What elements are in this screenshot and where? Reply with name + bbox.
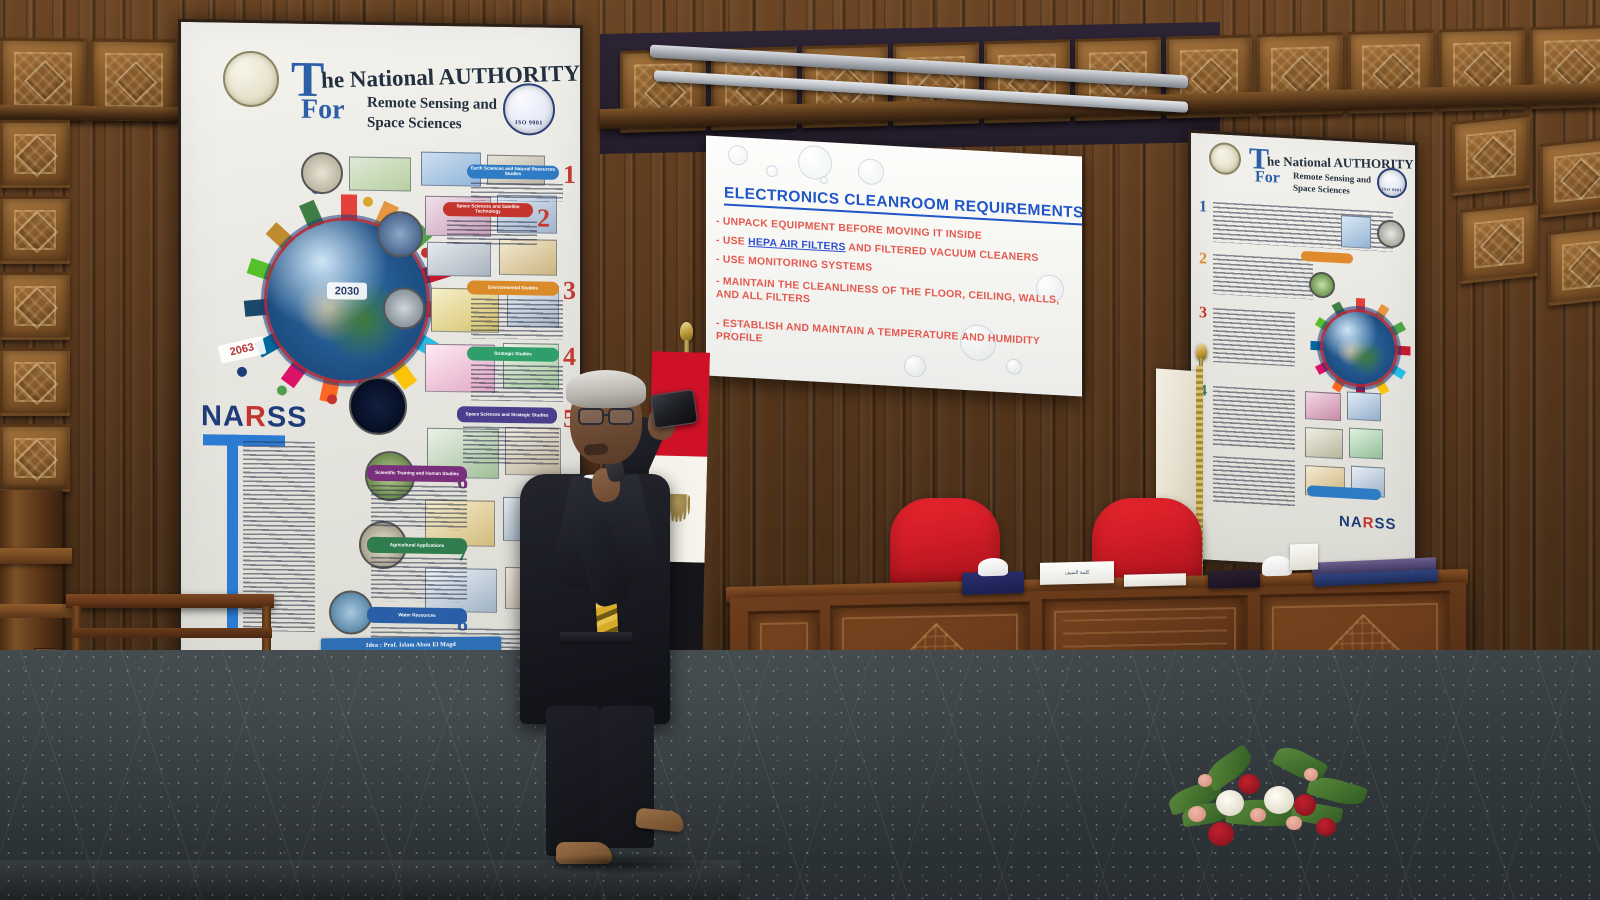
poster-body-text [1213, 386, 1295, 451]
tissue-sheet [978, 558, 1008, 577]
bubble-decoration-icon [728, 145, 748, 166]
belt [560, 632, 632, 644]
red-rose [1208, 822, 1234, 846]
poster-thumbnail-circle [377, 211, 423, 258]
iso-badge-label: ISO 9001 [505, 120, 553, 127]
poster-section-number: 1 [1199, 199, 1207, 215]
speaker-person [500, 370, 730, 870]
flower-arrangement [1164, 738, 1364, 848]
carved-panel [0, 120, 70, 188]
bullet-text: AND FILTERED VACUUM CLEANERS [846, 242, 1039, 264]
hepa-air-filters-link[interactable]: HEPA AIR FILTERS [748, 237, 846, 253]
poster-body-text [447, 220, 537, 245]
poster-section-number: 1 [563, 162, 576, 188]
conference-hall-scene: ISO 9001 T he National AUTHORITY For Rem… [0, 0, 1600, 900]
poster-header-line2b: Space Sciences [367, 115, 462, 133]
tissue-box-secondary[interactable] [1208, 569, 1260, 588]
poster-thumbnail-circle [301, 152, 343, 195]
white-rose [1216, 790, 1244, 816]
bubble-decoration-icon [820, 176, 828, 184]
poster-thumbnail-circle [349, 377, 407, 436]
poster-thumbnail [1347, 391, 1381, 421]
poster-thumbnail-circle [1377, 219, 1405, 249]
bubble-decoration-icon [798, 145, 832, 181]
poster-body-text [1213, 254, 1313, 300]
carved-panel [0, 348, 70, 416]
carved-panel [1460, 202, 1538, 284]
poster-section-title: Agricultural Applications [367, 537, 467, 555]
poster-body-text [371, 557, 467, 603]
poster-header-line2a: Remote Sensing and [367, 95, 497, 114]
iso-badge-label: ISO 9001 [1379, 187, 1405, 193]
projected-slide: ELECTRONICS CLEANROOM REQUIREMENTS - UNP… [706, 135, 1082, 396]
wheel-dot [327, 394, 337, 404]
side-table-rail [72, 628, 272, 638]
poster-thumbnail [1341, 215, 1371, 249]
side-table-top [66, 594, 274, 608]
poster-section-number: 2 [1199, 251, 1207, 267]
pink-flower [1286, 816, 1302, 830]
pink-flower [1304, 768, 1318, 781]
papers-stack[interactable] [1124, 573, 1186, 587]
eyeglasses-left-lens [578, 408, 604, 425]
poster-section-number: 2 [537, 205, 550, 231]
pillar-cap-lower [0, 604, 72, 618]
bubble-decoration-icon [1006, 358, 1022, 375]
tissue-sheet [1262, 556, 1292, 577]
carved-panel [0, 272, 70, 340]
flagpole-finial-icon [680, 322, 693, 341]
poster-section-number: 3 [563, 278, 576, 304]
poster-section-title: Water Resources [367, 607, 467, 625]
bubble-decoration-icon [766, 165, 778, 178]
trouser-leg-left [546, 706, 600, 856]
pink-flower [1250, 808, 1266, 822]
cornice-molding [0, 105, 200, 122]
eyeglasses-right-lens [608, 408, 634, 425]
person-shadow [534, 854, 714, 874]
carved-panel [0, 196, 70, 264]
poster-thumbnail [349, 157, 411, 192]
poster-thumbnail [1305, 391, 1341, 421]
poster-thumbnail [1305, 427, 1343, 459]
carved-panel [1452, 114, 1530, 196]
eyeglasses-bridge [604, 414, 610, 416]
poster-body-text [1213, 308, 1295, 367]
pink-flower [1198, 774, 1212, 787]
poster-body-text [371, 485, 467, 531]
bullet-text: - USE [716, 235, 748, 248]
pink-flower [1188, 806, 1206, 822]
red-rose [1238, 774, 1260, 794]
carved-panel [1540, 136, 1600, 218]
wheel-dot [363, 197, 373, 207]
poster-acronym: NARSS [1339, 513, 1397, 533]
slide-bullet-5: - ESTABLISH AND MAINTAIN A TEMPERATURE A… [716, 318, 1068, 363]
poster-header-line1: he National AUTHORITY [1267, 154, 1414, 173]
poster-thumbnail-circle [383, 287, 425, 330]
bullet-text: - ESTABLISH AND MAINTAIN A TEMPERATURE A… [716, 318, 1040, 347]
name-card-text: كلمة الضيف [1065, 570, 1090, 577]
poster-thumbnail [427, 242, 491, 277]
bubble-decoration-icon [904, 355, 926, 378]
poster-header-line2b: Space Sciences [1293, 182, 1350, 195]
pillar-cap [0, 548, 72, 564]
smartphone[interactable] [650, 389, 698, 429]
narss-seal-icon [1209, 142, 1241, 176]
poster-header-for: For [301, 94, 345, 127]
name-card: كلمة الضيف [1040, 561, 1114, 585]
poster-section-title: Strategic Studies [467, 346, 559, 361]
poster-body-text [471, 298, 563, 339]
poster-header-for: For [1255, 168, 1280, 187]
iso-9001-seal-icon: ISO 9001 [503, 83, 555, 136]
red-rose [1294, 794, 1316, 816]
globe-year-label-2030: 2030 [327, 282, 367, 300]
white-rose [1264, 786, 1294, 814]
carved-panel [1548, 224, 1600, 306]
poster-section-title: Environmental Studies [467, 280, 559, 295]
red-rose [1316, 818, 1336, 836]
poster-acronym: NARSS [201, 400, 308, 435]
poster-body-text [471, 182, 563, 201]
poster-right: ISO 9001 T he National AUTHORITY For Rem… [1188, 130, 1418, 575]
poster-section-title: Space Sciences and Satellite Technology [443, 202, 533, 217]
poster-section-number: 3 [1199, 305, 1207, 321]
wheel-dot [237, 367, 247, 377]
papers-stack[interactable] [1290, 544, 1318, 571]
bubble-decoration-icon [858, 158, 884, 185]
poster-section-title: Scientific Training and Human Studies [367, 465, 467, 483]
poster-body-text [1213, 456, 1295, 507]
bullet-text: - USE MONITORING SYSTEMS [716, 254, 873, 274]
mouth [584, 443, 609, 456]
poster-thumbnail [1349, 428, 1383, 460]
narss-seal-icon [223, 51, 279, 108]
hair [566, 370, 646, 408]
wheel-dot [277, 385, 287, 395]
poster-section-title: Earth Sciences and Natural Resources Stu… [467, 164, 559, 179]
poster-section-number: 4 [563, 344, 576, 370]
carved-panel [0, 424, 70, 492]
